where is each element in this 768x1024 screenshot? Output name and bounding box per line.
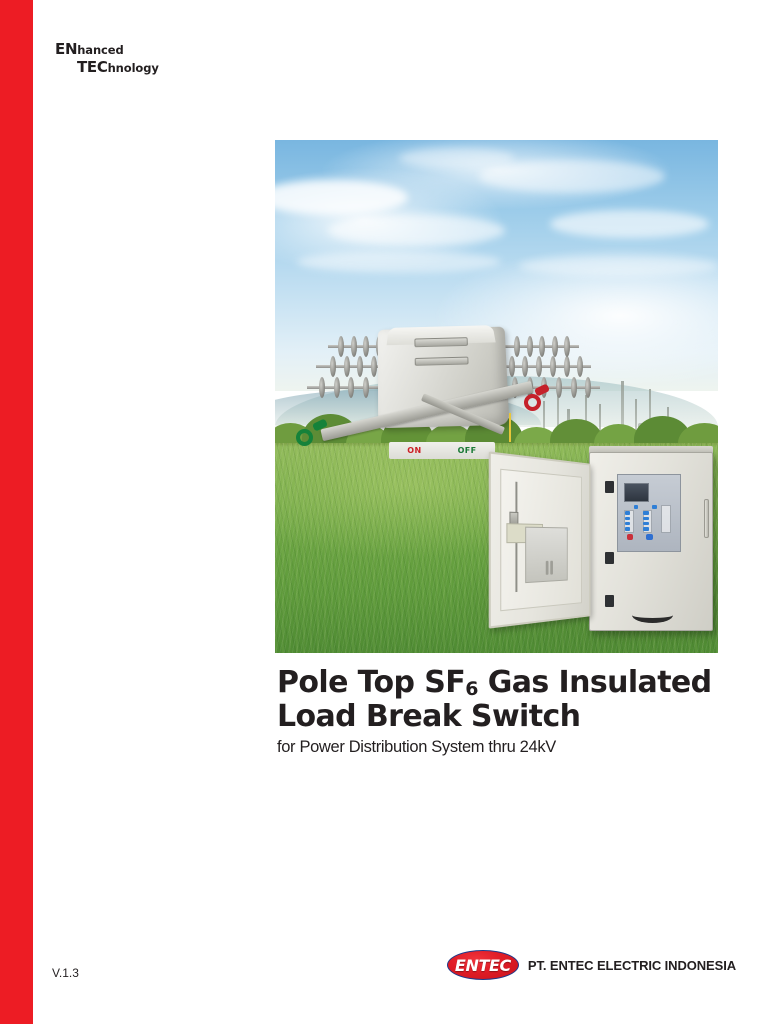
cover-title-block: Pole Top SF6 Gas Insulated Load Break Sw… bbox=[277, 666, 727, 757]
red-operating-hook bbox=[524, 394, 541, 411]
panel-blue-button bbox=[646, 534, 653, 540]
cloud-shape bbox=[297, 251, 501, 274]
footer-brand-block: ENTEC PT. ENTEC ELECTRIC INDONESIA bbox=[447, 950, 736, 980]
green-operating-hook bbox=[296, 429, 313, 446]
yellow-drop-rod bbox=[509, 413, 511, 442]
load-break-switch-device: ON OFF bbox=[302, 325, 594, 458]
logo-text-hanced: hanced bbox=[77, 43, 123, 57]
left-red-accent-band bbox=[0, 0, 33, 1024]
mounting-bracket bbox=[415, 357, 469, 367]
cabinet-hinge bbox=[605, 552, 614, 564]
door-mounted-plate bbox=[525, 526, 568, 583]
off-label: OFF bbox=[458, 446, 477, 455]
on-label: ON bbox=[407, 446, 421, 455]
on-off-indicator-plate: ON OFF bbox=[389, 442, 494, 459]
control-panel-display bbox=[624, 483, 649, 503]
control-cabinet bbox=[488, 448, 718, 643]
title-line1-part2: Gas Insulated bbox=[478, 665, 712, 700]
cabinet-cable bbox=[632, 607, 674, 623]
logo-text-hnology: hnology bbox=[108, 61, 159, 75]
cloud-shape bbox=[328, 215, 505, 245]
company-name: PT. ENTEC ELECTRIC INDONESIA bbox=[528, 958, 736, 973]
cabinet-hinge bbox=[605, 481, 614, 493]
door-inner-face bbox=[499, 468, 581, 611]
document-version: V.1.3 bbox=[52, 966, 79, 980]
cloud-shape bbox=[399, 148, 514, 168]
cabinet-handle bbox=[704, 499, 709, 538]
cloud-shape bbox=[479, 160, 665, 193]
control-panel bbox=[617, 474, 681, 552]
title-line2: Load Break Switch bbox=[277, 699, 580, 734]
logo-text-tec: TEC bbox=[77, 58, 108, 76]
logo-text-en: EN bbox=[55, 40, 77, 58]
panel-indicator-column bbox=[661, 505, 671, 532]
cabinet-enclosure bbox=[589, 452, 713, 631]
cloud-shape bbox=[550, 210, 709, 238]
cabinet-hinge bbox=[605, 595, 614, 607]
title-line1-part1: Pole Top SF bbox=[277, 665, 465, 700]
cloud-shape bbox=[275, 180, 408, 215]
entec-logo-icon: ENTEC bbox=[447, 950, 519, 980]
cabinet-open-door bbox=[488, 451, 590, 628]
page-subtitle: for Power Distribution System thru 24kV bbox=[277, 738, 727, 757]
cloud-shape bbox=[519, 256, 718, 276]
entec-logo-text: ENTEC bbox=[455, 956, 511, 975]
enhanced-technology-logo: ENhanced TEChnology bbox=[55, 42, 205, 76]
mounting-bracket bbox=[414, 337, 468, 347]
document-cover-page: ENhanced TEChnology bbox=[0, 0, 768, 1024]
hero-product-photo: ON OFF bbox=[275, 140, 718, 653]
panel-red-button bbox=[627, 534, 634, 540]
page-title: Pole Top SF6 Gas Insulated Load Break Sw… bbox=[277, 666, 727, 733]
title-sf6-subscript: 6 bbox=[465, 678, 478, 700]
